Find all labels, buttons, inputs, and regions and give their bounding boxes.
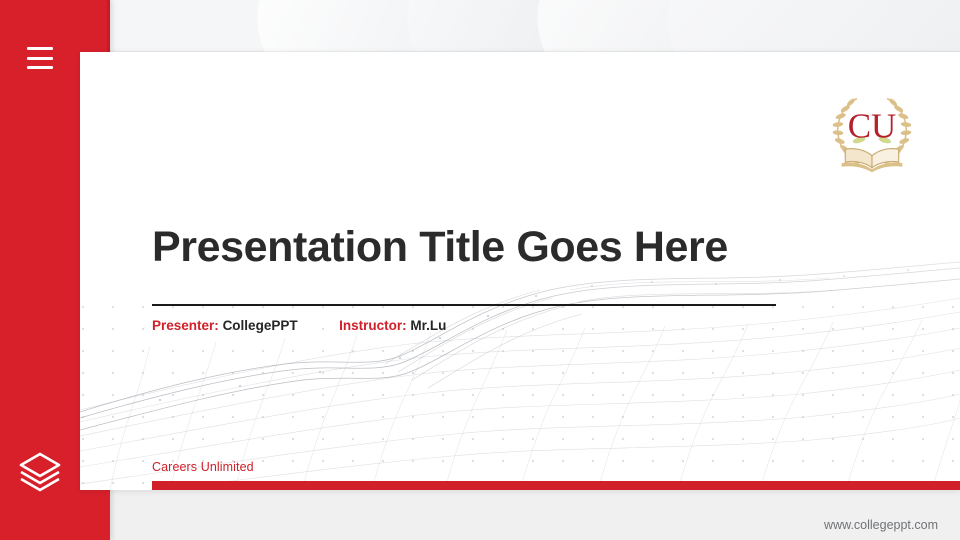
presenter-name: CollegePPT xyxy=(223,318,298,333)
presenter-label: Presenter: xyxy=(152,318,219,333)
sidebar-edge-shadow xyxy=(107,0,110,52)
menu-line-2 xyxy=(27,57,53,60)
page-title: Presentation Title Goes Here xyxy=(152,225,872,270)
title-divider-rule xyxy=(152,304,776,306)
tagline: Careers Unlimited xyxy=(152,460,254,474)
header-band xyxy=(110,0,960,52)
footer-url: www.collegeppt.com xyxy=(824,518,938,532)
instructor-name: Mr.Lu xyxy=(410,318,446,333)
instructor-label: Instructor: xyxy=(339,318,407,333)
slide-canvas: CU Presentation Title Goes Here Presente… xyxy=(80,52,960,490)
bottom-red-bar xyxy=(152,481,960,490)
hamburger-menu-icon[interactable] xyxy=(27,47,53,69)
menu-line-3 xyxy=(27,66,53,69)
cu-university-logo: CU xyxy=(826,84,918,176)
wireframe-mesh-background xyxy=(80,260,960,490)
byline: Presenter: CollegePPT Instructor: Mr.Lu xyxy=(152,318,446,333)
logo-monogram-text: CU xyxy=(848,106,897,145)
menu-line-1 xyxy=(27,47,53,50)
header-swoosh-4 xyxy=(637,0,960,52)
slide-preview-screen: CU Presentation Title Goes Here Presente… xyxy=(0,0,960,540)
layers-stack-icon[interactable] xyxy=(16,446,64,494)
